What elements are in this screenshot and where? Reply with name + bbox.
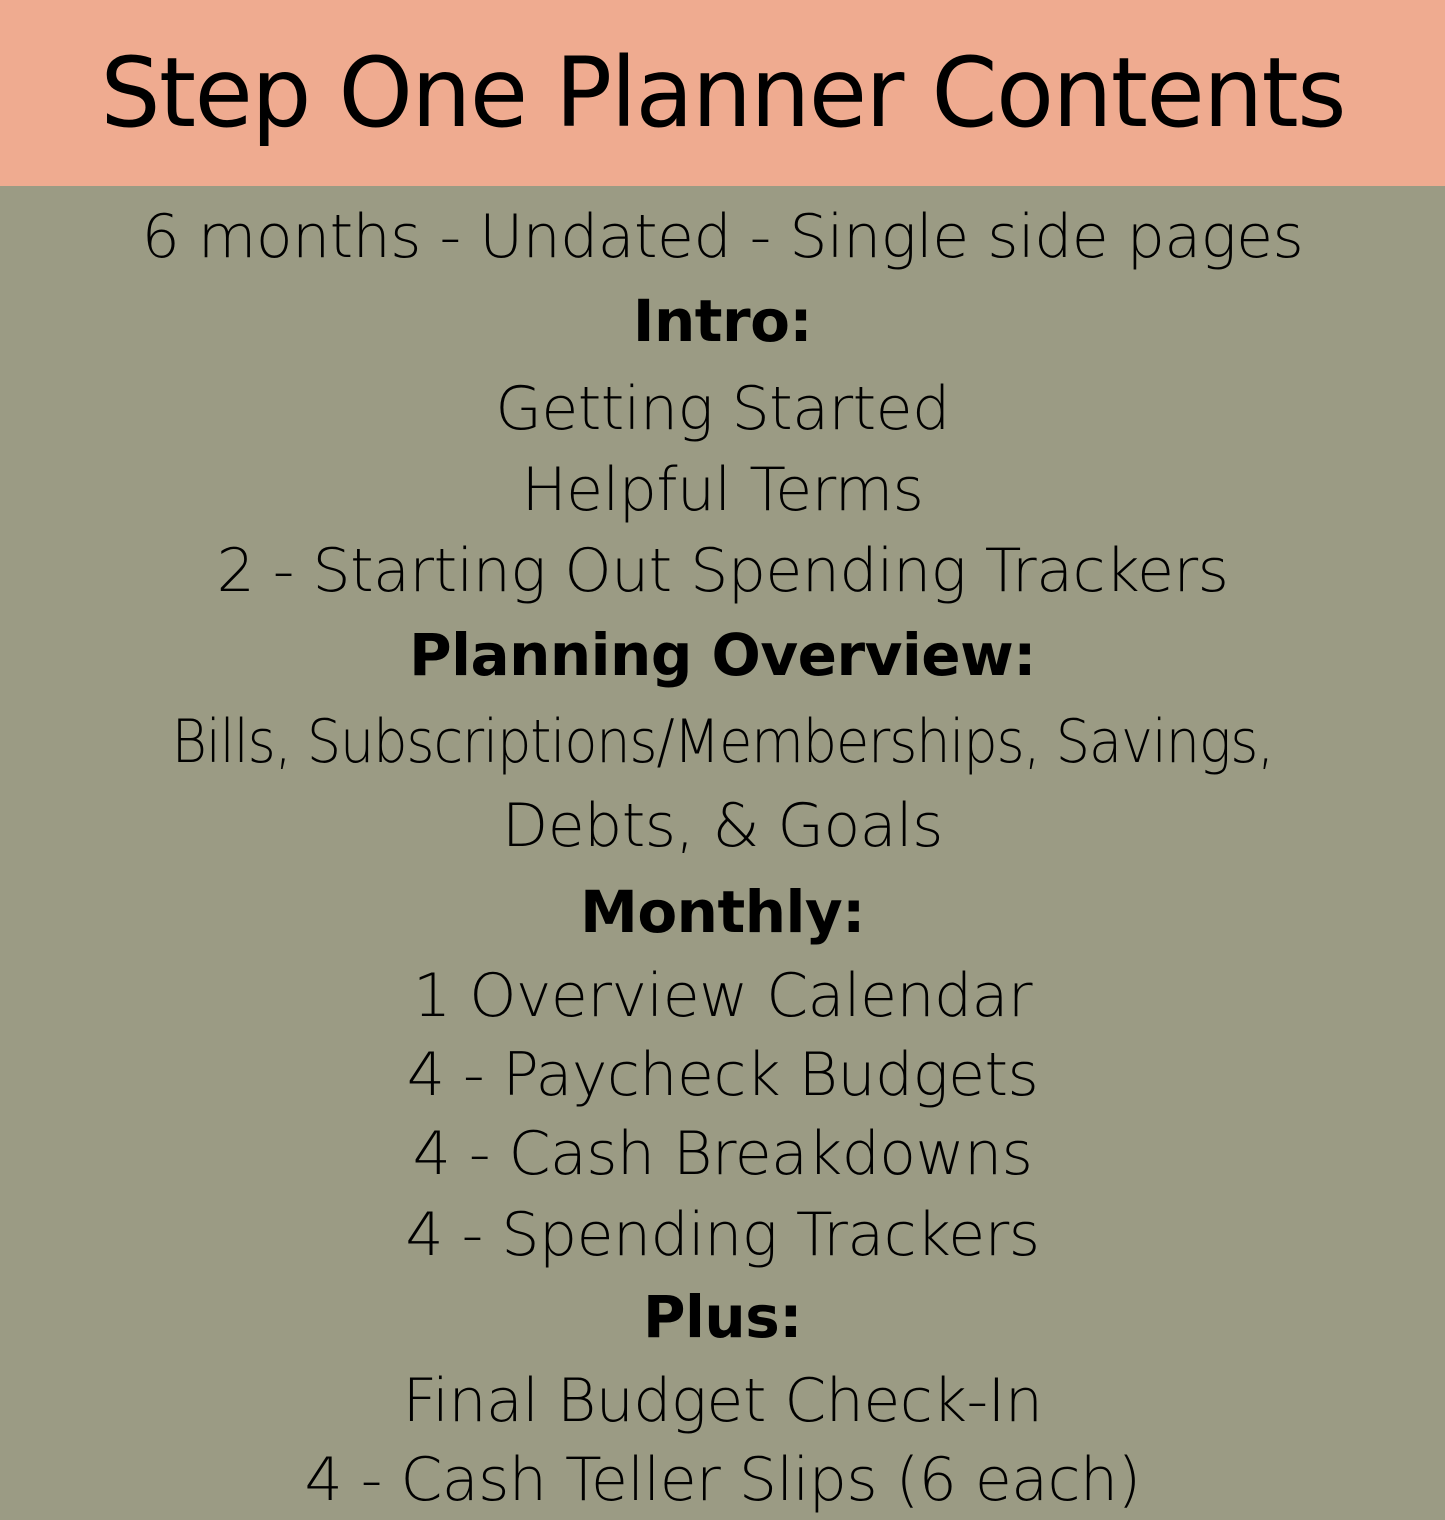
section-heading-planning-overview: Planning Overview: xyxy=(0,615,1445,696)
list-item: 6 months - Undated - Single side pages xyxy=(0,198,1445,277)
list-item: 4 - Cash Teller Slips (6 each) xyxy=(0,1441,1445,1520)
list-item: 4 - Cash Breakdowns xyxy=(0,1115,1445,1194)
section-heading-plus: Plus: xyxy=(0,1277,1445,1358)
list-item: Getting Started xyxy=(0,370,1445,449)
planner-contents-poster: Step One Planner Contents 6 months - Und… xyxy=(0,0,1445,1445)
list-item: 1 Overview Calendar xyxy=(0,957,1445,1036)
list-item: 2 - Starting Out Spending Trackers xyxy=(0,532,1445,611)
list-item: 4 - Spending Trackers xyxy=(0,1196,1445,1275)
list-item: Bills, Subscriptions/Memberships, Saving… xyxy=(72,700,1373,784)
page-title: Step One Planner Contents xyxy=(100,45,1345,141)
list-item: Debts, & Goals xyxy=(0,784,1445,868)
section-heading-intro: Intro: xyxy=(0,281,1445,362)
header-banner: Step One Planner Contents xyxy=(0,0,1445,186)
list-item: Helpful Terms xyxy=(0,451,1445,530)
contents-list: 6 months - Undated - Single side pages I… xyxy=(0,186,1445,1520)
list-item: Final Budget Check-In xyxy=(0,1362,1445,1441)
list-item: 4 - Paycheck Budgets xyxy=(0,1036,1445,1115)
section-heading-monthly: Monthly: xyxy=(0,872,1445,953)
